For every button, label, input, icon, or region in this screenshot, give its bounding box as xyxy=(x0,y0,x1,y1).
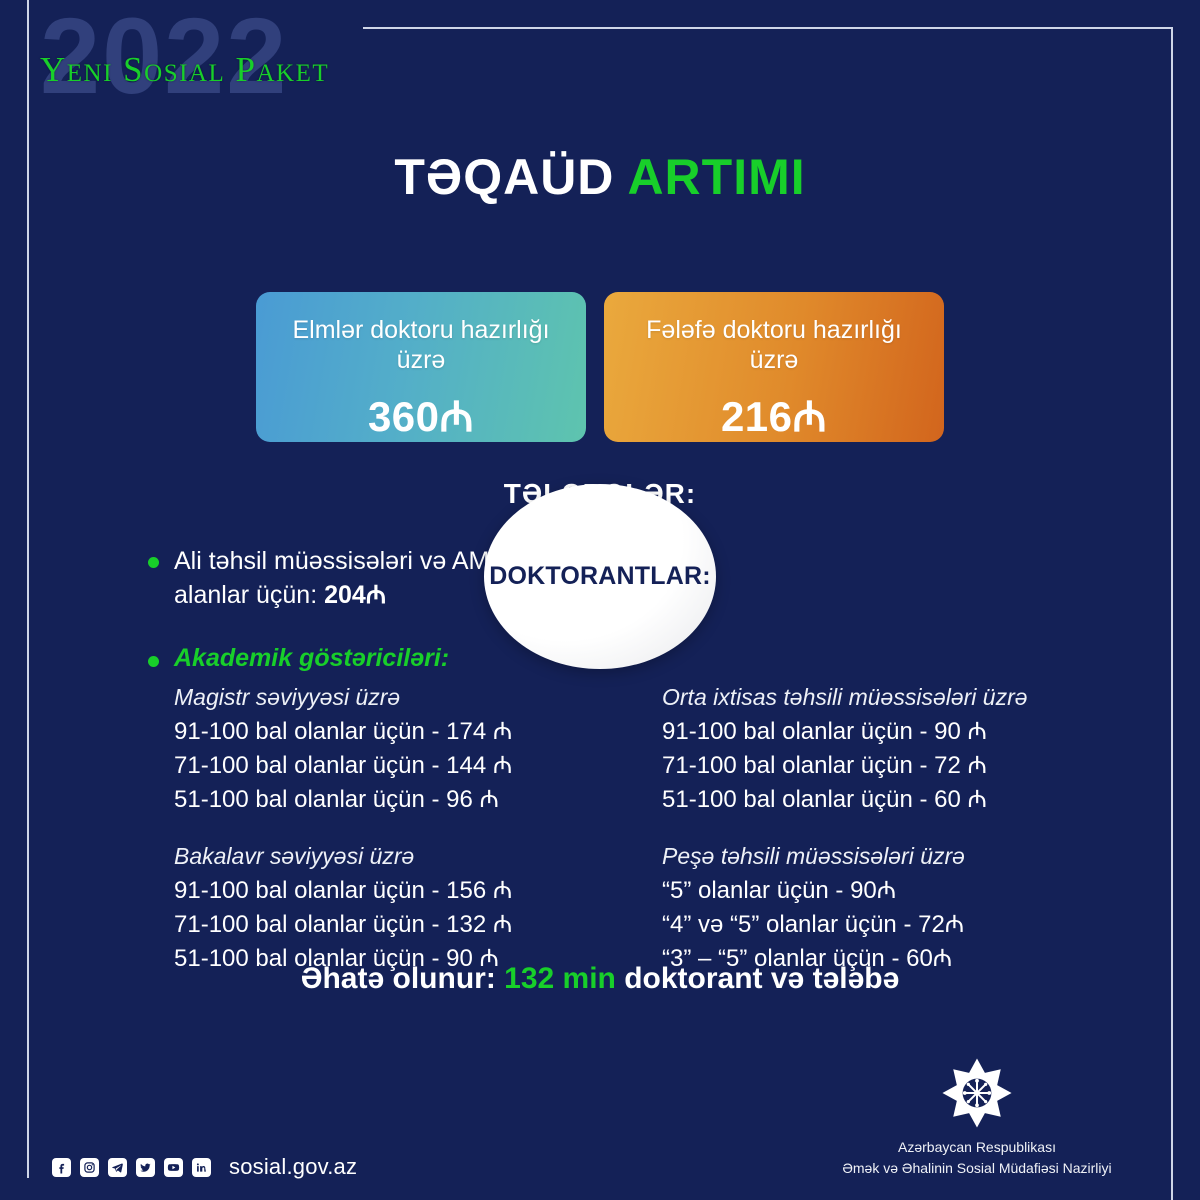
academic-group-magistr: Magistr səviyyəsi üzrə 91-100 bal olanla… xyxy=(174,684,584,817)
brand-tagline: Yeni Sosial Paket xyxy=(40,50,329,90)
academic-column-right: Orta ixtisas təhsili müəssisələri üzrə 9… xyxy=(662,684,1072,1002)
score-line: 71-100 bal olanlar üçün - 132 ₼ xyxy=(174,908,584,942)
rate-card-label: Fələfə doktoru hazırlığı üzrə xyxy=(630,316,918,375)
ministry-star-logo-icon xyxy=(941,1057,1013,1129)
bullet-dot-icon xyxy=(148,656,159,667)
doktorantlar-badge-label: DOKTORANTLAR: xyxy=(489,562,711,591)
facebook-icon[interactable] xyxy=(52,1158,71,1177)
score-line: 91-100 bal olanlar üçün - 174 ₼ xyxy=(174,715,584,749)
bullet-dot-icon xyxy=(148,557,159,568)
score-line: 71-100 bal olanlar üçün - 144 ₼ xyxy=(174,749,584,783)
score-line: 51-100 bal olanlar üçün - 96 ₼ xyxy=(174,783,584,817)
doktorantlar-badge: DOKTORANTLAR: xyxy=(484,484,716,669)
page-title-part1: TƏQAÜD xyxy=(394,149,614,205)
twitter-icon[interactable] xyxy=(136,1158,155,1177)
header: 2022 Yeni Sosial Paket xyxy=(0,0,420,130)
score-line: 91-100 bal olanlar üçün - 90 ₼ xyxy=(662,715,1072,749)
academic-group-pese: Peşə təhsili müəssisələri üzrə “5” olanl… xyxy=(662,843,1072,976)
academic-group-title: Orta ixtisas təhsili müəssisələri üzrə xyxy=(662,684,1072,711)
named-scholarship-amount: 204₼ xyxy=(324,581,386,609)
footer-social-bar: sosial.gov.az xyxy=(52,1154,357,1180)
score-line: “5” olanlar üçün - 90₼ xyxy=(662,874,1072,908)
page-title-part2: ARTIMI xyxy=(627,149,805,205)
rate-card-value: 216₼ xyxy=(630,387,918,444)
academic-group-title: Peşə təhsili müəssisələri üzrə xyxy=(662,843,1072,870)
score-line: “4” və “5” olanlar üçün - 72₼ xyxy=(662,908,1072,942)
academic-indicators-section: Akademik göstəriciləri: Magistr səviyyəs… xyxy=(148,644,1088,1002)
rate-card-elmler-doktoru: Elmlər doktoru hazırlığı üzrə 360₼ xyxy=(256,292,586,442)
doctorants-section: Elmlər doktoru hazırlığı üzrə 360₼ Fələf… xyxy=(0,236,1200,446)
instagram-icon[interactable] xyxy=(80,1158,99,1177)
telegram-icon[interactable] xyxy=(108,1158,127,1177)
rate-card-value: 360₼ xyxy=(282,387,560,444)
frame-border-top xyxy=(363,27,1173,29)
page-title: TƏQAÜD ARTIMI xyxy=(0,148,1200,206)
academic-columns: Magistr səviyyəsi üzrə 91-100 bal olanla… xyxy=(174,684,1088,1002)
academic-group-title: Bakalavr səviyyəsi üzrə xyxy=(174,843,584,870)
score-line: 51-100 bal olanlar üçün - 60 ₼ xyxy=(662,783,1072,817)
academic-group-bakalavr: Bakalavr səviyyəsi üzrə 91-100 bal olanl… xyxy=(174,843,584,976)
youtube-icon[interactable] xyxy=(164,1158,183,1177)
coverage-count: 132 min xyxy=(504,962,616,995)
academic-column-left: Magistr səviyyəsi üzrə 91-100 bal olanla… xyxy=(174,684,584,1002)
rate-card-label: Elmlər doktoru hazırlığı üzrə xyxy=(282,316,560,375)
ministry-name-line2: Əmək və Əhalinin Sosial Müdafiəsi Nazirl… xyxy=(812,1158,1142,1178)
coverage-suffix: doktorant və tələbə xyxy=(616,962,899,995)
ministry-block: Azərbaycan Respublikası Əmək və Əhalinin… xyxy=(812,1057,1142,1178)
academic-group-orta-ixtisas: Orta ixtisas təhsili müəssisələri üzrə 9… xyxy=(662,684,1072,817)
footer-website-link[interactable]: sosial.gov.az xyxy=(229,1154,357,1180)
score-line: 71-100 bal olanlar üçün - 72 ₼ xyxy=(662,749,1072,783)
academic-group-title: Magistr səviyyəsi üzrə xyxy=(174,684,584,711)
coverage-prefix: Əhatə olunur: xyxy=(301,962,504,995)
coverage-summary: Əhatə olunur: 132 min doktorant və tələb… xyxy=(0,962,1200,996)
linkedin-icon[interactable] xyxy=(192,1158,211,1177)
rate-card-felsefe-doktoru: Fələfə doktoru hazırlığı üzrə 216₼ xyxy=(604,292,944,442)
score-line: 91-100 bal olanlar üçün - 156 ₼ xyxy=(174,874,584,908)
ministry-name-line1: Azərbaycan Respublikası xyxy=(812,1137,1142,1157)
